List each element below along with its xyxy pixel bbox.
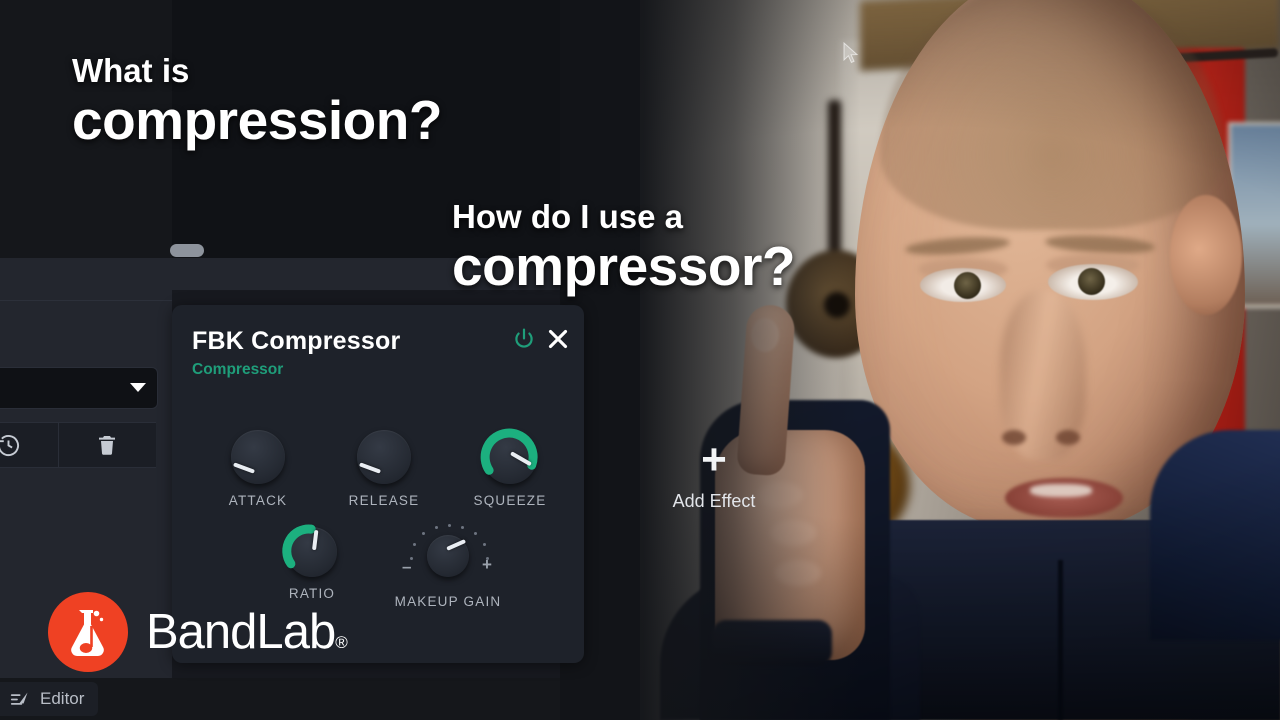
history-revert-icon [0, 432, 22, 459]
eye-right [1048, 264, 1138, 300]
jacket-zipper [1058, 560, 1063, 720]
power-toggle-icon [512, 327, 536, 351]
ratio-knob-group[interactable]: RATIO [258, 527, 366, 601]
nostril-right [1056, 430, 1080, 445]
squeeze-label: SQUEEZE [456, 493, 564, 508]
release-knob[interactable] [357, 430, 411, 484]
makeup-minus-label: – [402, 557, 411, 577]
squeeze-arc [476, 423, 544, 491]
bandlab-wordmark: BandLab® [146, 604, 347, 660]
attack-knob[interactable] [231, 430, 285, 484]
close-icon [546, 327, 570, 351]
add-effect-label: Add Effect [650, 491, 778, 512]
release-label: RELEASE [330, 493, 438, 508]
bandlab-wordmark-text: BandLab [146, 605, 335, 659]
video-thumbnail: Editor FBK Compressor Compressor ATTACK [0, 0, 1280, 720]
screenshot-photo-blend [560, 0, 860, 720]
attack-knob-group[interactable]: ATTACK [204, 430, 312, 508]
plugin-subtitle: Compressor [192, 361, 283, 379]
chevron-down-icon[interactable] [130, 383, 146, 392]
plugin-title: FBK Compressor [192, 327, 400, 356]
mouth [1005, 478, 1123, 518]
ratio-arc [280, 520, 344, 584]
makeup-gain-label: MAKEUP GAIN [388, 594, 508, 609]
bandlab-logo: BandLab® [48, 592, 347, 672]
jacket-hood [1150, 430, 1280, 640]
editor-sliders-icon [10, 689, 31, 710]
editor-button[interactable]: Editor [0, 682, 98, 716]
add-effect-button[interactable]: + Add Effect [650, 443, 778, 512]
caption-2-small: How do I use a [452, 198, 683, 236]
release-knob-group[interactable]: RELEASE [330, 430, 438, 508]
flask-glyph [48, 592, 128, 672]
panel-drag-handle[interactable] [170, 244, 204, 257]
nostril-left [1002, 430, 1026, 445]
trash-icon [95, 433, 119, 457]
makeup-gain-knob[interactable] [427, 535, 469, 577]
ratio-knob[interactable] [287, 527, 337, 577]
editor-button-label: Editor [40, 689, 84, 709]
presenter-hair [880, 0, 1225, 230]
rail-icon-row [0, 422, 156, 468]
presenter-ear [1170, 195, 1242, 315]
plugin-power-button[interactable] [512, 327, 536, 356]
attack-arc [224, 423, 292, 491]
mouse-cursor-icon [843, 42, 860, 71]
makeup-gain-knob-group[interactable]: – + MAKEUP GAIN [388, 527, 508, 609]
makeup-plus-label: + [482, 555, 492, 575]
plus-icon: + [650, 443, 778, 477]
eye-left [920, 268, 1006, 302]
caption-1-small: What is [72, 52, 189, 90]
delete-button[interactable] [58, 423, 157, 467]
caption-2-big: compressor? [452, 234, 795, 298]
caption-1-big: compression? [72, 88, 442, 152]
bandlab-flask-icon [48, 592, 128, 672]
plugin-close-button[interactable] [546, 327, 570, 356]
squeeze-knob[interactable] [483, 430, 537, 484]
rail-divider [0, 300, 172, 301]
registered-mark: ® [335, 633, 347, 652]
attack-label: ATTACK [204, 493, 312, 508]
history-revert-button[interactable] [0, 423, 58, 467]
squeeze-knob-group[interactable]: SQUEEZE [456, 430, 564, 508]
